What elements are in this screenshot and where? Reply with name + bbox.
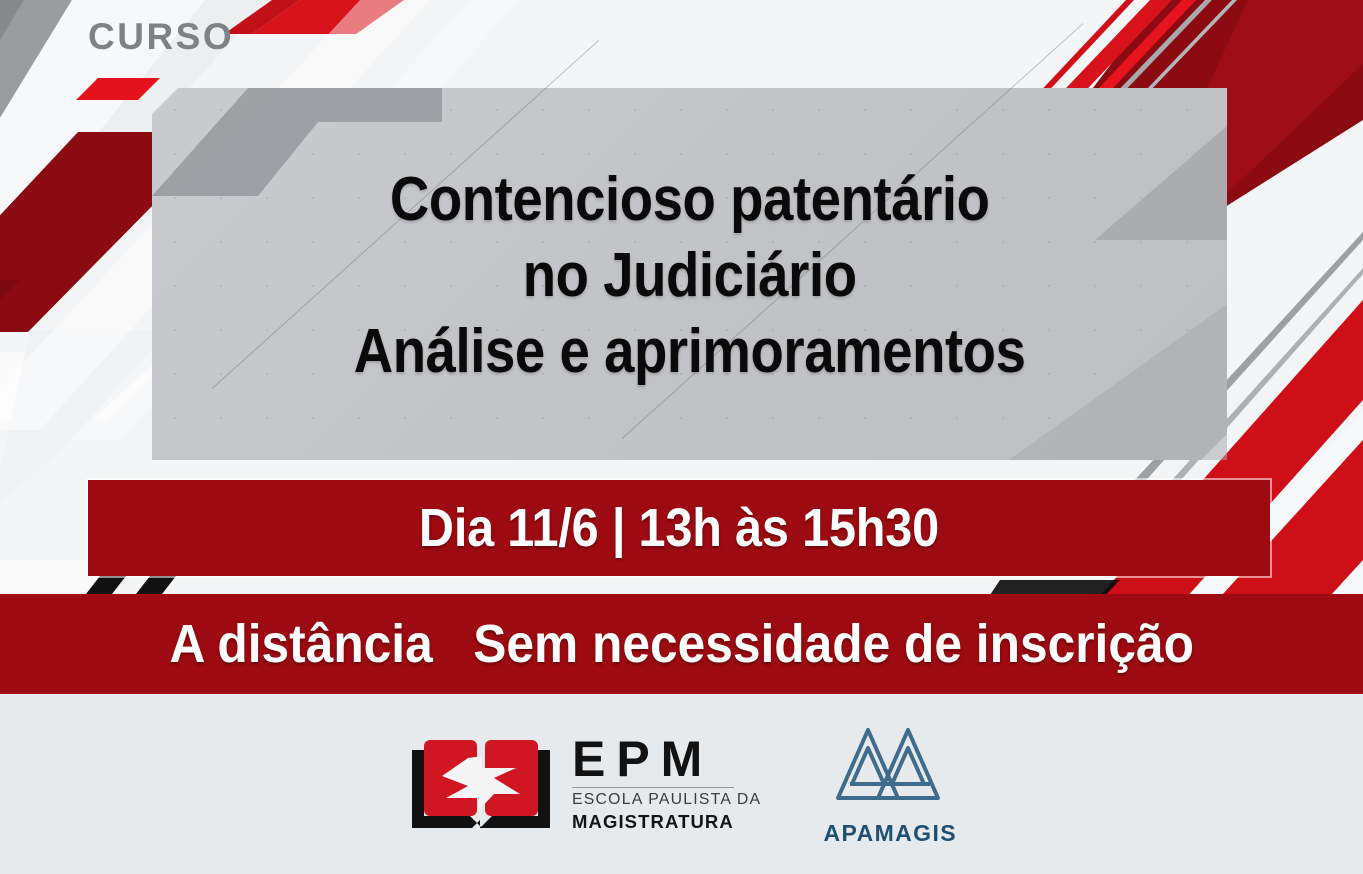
modality-text: A distância xyxy=(169,613,432,675)
apamagis-wordmark: APAMAGIS xyxy=(824,820,957,847)
epm-logo: EPM ESCOLA PAULISTA DA MAGISTRATURA xyxy=(406,732,758,836)
title-plate: Contencioso patentário no Judiciário Aná… xyxy=(152,88,1227,460)
epm-subtitle-line2: MAGISTRATURA xyxy=(572,811,734,833)
double-a-monogram-icon xyxy=(830,722,950,814)
registration-text: Sem necessidade de inscrição xyxy=(473,613,1194,675)
footer-logo-group: EPM ESCOLA PAULISTA DA MAGISTRATURA xyxy=(0,694,1363,874)
epm-subtitle-line1: ESCOLA PAULISTA DA xyxy=(572,791,761,809)
open-book-icon xyxy=(406,732,556,836)
title-text-group: Contencioso patentário no Judiciário Aná… xyxy=(152,88,1227,460)
date-banner-text: Dia 11/6 | 13h às 15h30 xyxy=(419,497,939,559)
info-banner: A distância Sem necessidade de inscrição xyxy=(0,594,1363,694)
course-poster: CURSO Contencioso patentário no Judiciár… xyxy=(0,0,1363,874)
epm-wordmark: EPM ESCOLA PAULISTA DA MAGISTRATURA xyxy=(572,735,758,833)
kicker-label: CURSO xyxy=(88,16,234,58)
epm-divider xyxy=(572,787,734,788)
title-line-3: Análise e aprimoramentos xyxy=(354,319,1026,385)
title-line-1: Contencioso patentário xyxy=(390,167,990,233)
epm-acronym: EPM xyxy=(572,735,713,783)
title-line-2: no Judiciário xyxy=(523,243,857,309)
apamagis-logo: APAMAGIS xyxy=(824,722,957,847)
info-banner-row: A distância Sem necessidade de inscrição xyxy=(169,613,1193,675)
footer: EPM ESCOLA PAULISTA DA MAGISTRATURA xyxy=(0,694,1363,874)
date-banner: Dia 11/6 | 13h às 15h30 xyxy=(88,480,1270,576)
